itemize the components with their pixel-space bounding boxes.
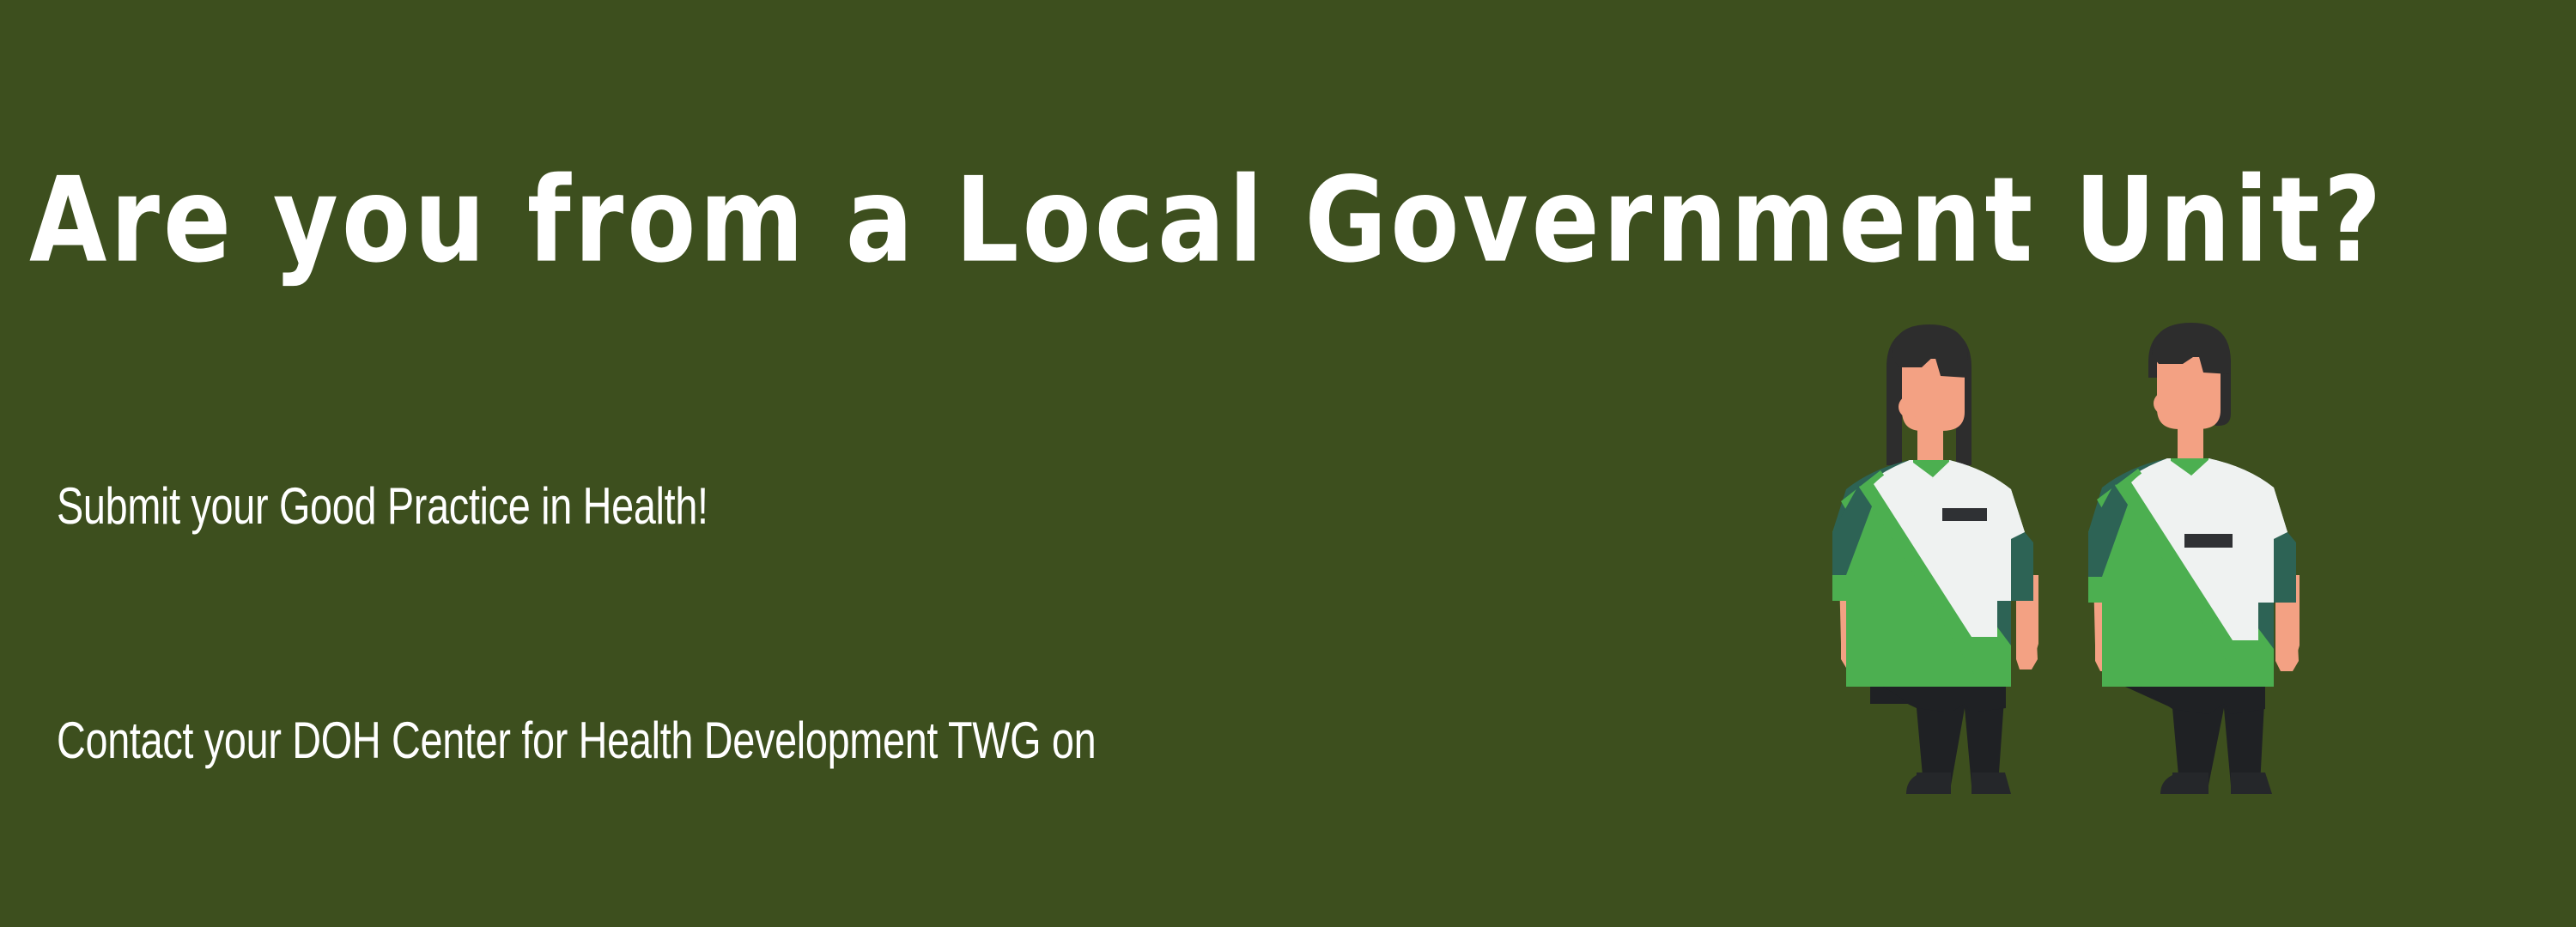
body-line-1: Submit your Good Practice in Health!: [57, 467, 1396, 545]
male-health-worker: [2088, 323, 2300, 794]
female-legs: [1870, 678, 2011, 794]
female-name-badge: [1942, 508, 1987, 521]
promo-banner: Are you from a Local Government Unit? Su…: [0, 0, 2576, 927]
health-workers-illustration: [1820, 318, 2336, 807]
male-legs: [2125, 676, 2272, 794]
female-health-worker: [1832, 324, 2038, 794]
page-title: Are you from a Local Government Unit?: [29, 157, 2324, 284]
male-name-badge: [2184, 534, 2233, 548]
body-line-2: Contact your DOH Center for Health Devel…: [57, 701, 1396, 779]
body-copy: Submit your Good Practice in Health! Con…: [57, 311, 1396, 927]
